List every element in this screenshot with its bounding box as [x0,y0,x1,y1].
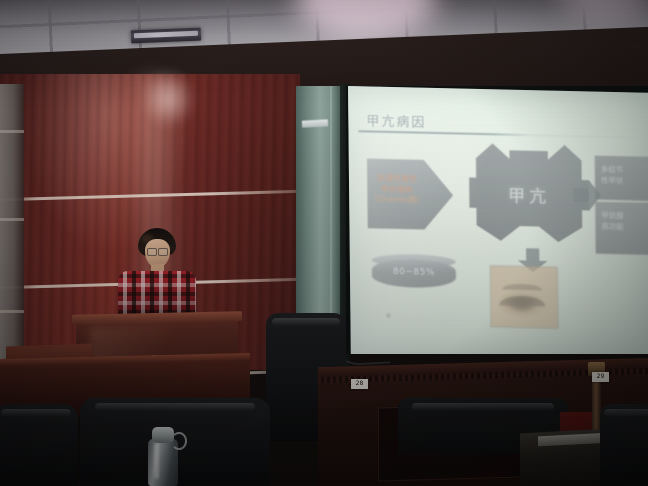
chair [0,404,78,486]
right-box1-line2: 性甲状 [601,175,624,187]
slide-percentage-label: 80~85% [372,267,456,279]
lecture-hall-photo: 甲亢病因 弥漫性毒性 甲状腺肿 （Graves病） 甲亢 [0,0,648,486]
presenter-eyeglasses [147,248,167,254]
slide-center-label: 甲亢 [469,181,589,209]
slide-left-cause-box: 弥漫性毒性 甲状腺肿 （Graves病） [367,158,454,230]
projection-screen-frame: 甲亢病因 弥漫性毒性 甲状腺肿 （Graves病） 甲亢 [346,86,648,354]
water-bottle [144,423,182,486]
desk-number-value: 28 [351,379,368,389]
desk-number-value: 29 [592,372,609,382]
wall-light-hotspot [142,70,196,128]
presentation-slide: 甲亢病因 弥漫性毒性 甲状腺肿 （Graves病） 甲亢 [348,86,648,354]
projection-screen: 甲亢病因 弥漫性毒性 甲状腺肿 （Graves病） 甲亢 [348,86,648,354]
desk-number-plaque: 28 [351,379,368,389]
right-box1-line1: 多结节 [601,164,624,176]
slide-right-cause-box-2: 甲状腺 高功能 [595,202,648,255]
left-wall-edge [0,84,24,376]
slide-title-underline [358,130,636,138]
slide-title: 甲亢病因 [366,110,426,130]
right-box2-line1: 甲状腺 [601,210,624,222]
slide-clinical-eye-photo [490,265,559,329]
right-box2-line2: 高功能 [601,221,624,233]
slide-right-cause-box-1: 多结节 性甲状 [595,156,648,201]
chair [600,404,648,486]
desk-number-plaque: 29 [592,372,609,382]
column-light-reflection [302,119,328,127]
left-box-line3: （Graves病） [367,194,427,206]
